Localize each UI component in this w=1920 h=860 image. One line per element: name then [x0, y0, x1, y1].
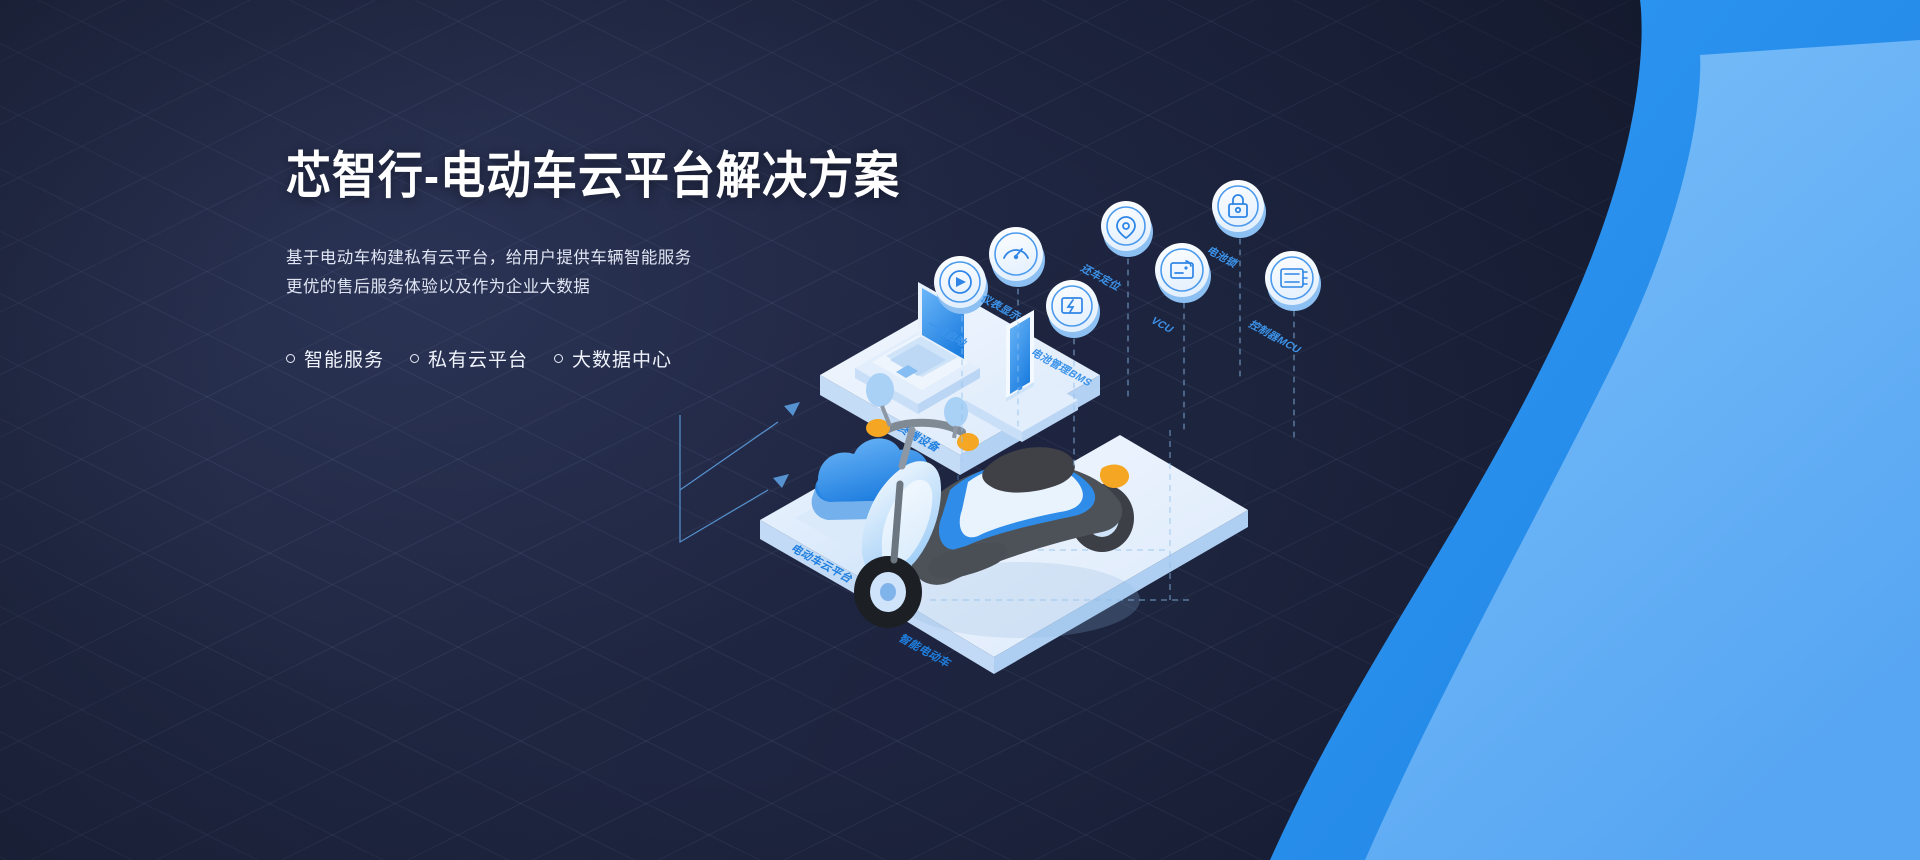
circle-ring-icon [554, 354, 563, 363]
isometric-illustration: 终端设备 电动车云平台 [650, 130, 1390, 830]
feature-node-6[interactable]: 控制器MCU [1246, 251, 1321, 356]
feature-node-label: VCU [1148, 315, 1176, 335]
feature-node-5[interactable]: 电池锁 [1204, 180, 1266, 270]
bullet-item-1[interactable]: 私有云平台 [410, 345, 528, 372]
arrow-terminal-to-cloud [680, 415, 778, 490]
banner-stage: 芯智行-电动车云平台解决方案 基于电动车构建私有云平台，给用户提供车辆智能服务 … [0, 0, 1920, 860]
feature-node-label: 电池锁 [1204, 245, 1241, 270]
circle-ring-icon [286, 354, 295, 363]
arrow-cloud-branch [680, 490, 768, 542]
bullet-item-0[interactable]: 智能服务 [286, 345, 384, 372]
feature-node-3[interactable]: 还车定位 [1077, 201, 1153, 293]
feature-node-label: 控制器MCU [1246, 319, 1305, 356]
feature-node-4[interactable]: VCU [1148, 243, 1211, 335]
circle-ring-icon [410, 354, 419, 363]
bullet-label: 智能服务 [304, 345, 384, 372]
bullet-label: 私有云平台 [428, 345, 528, 372]
feature-node-1[interactable]: 仪表显示 [977, 227, 1045, 323]
